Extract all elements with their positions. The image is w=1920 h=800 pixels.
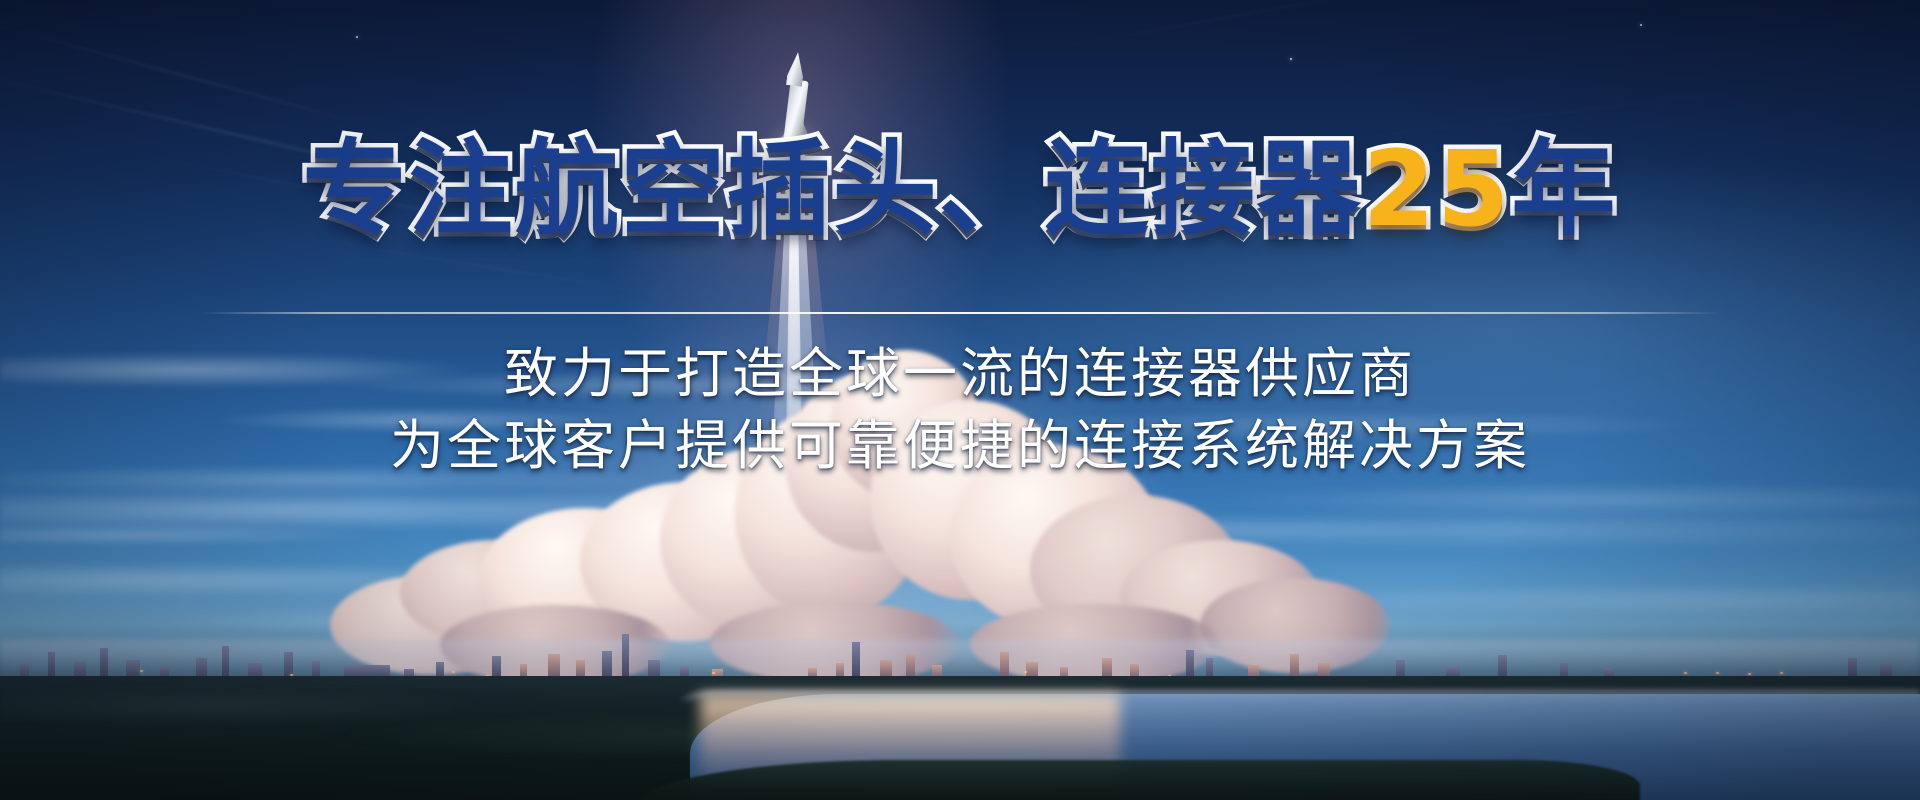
city-light bbox=[1684, 672, 1687, 674]
contrail-streak bbox=[980, 0, 1492, 62]
headline-segment-main: 专注航空插头、连接器 bbox=[303, 137, 1363, 241]
city-light bbox=[1716, 672, 1719, 674]
hero-banner: 专注航空插头、连接器25年 致力于打造全球一流的连接器供应商 为全球客户提供可靠… bbox=[0, 0, 1920, 800]
city-light bbox=[452, 671, 455, 673]
banner-headline: 专注航空插头、连接器25年 bbox=[0, 137, 1920, 241]
banner-subtitle: 致力于打造全球一流的连接器供应商 为全球客户提供可靠便捷的连接系统解决方案 bbox=[0, 338, 1920, 482]
headline-divider bbox=[200, 312, 1720, 314]
city-light bbox=[712, 672, 715, 674]
headline-segment-years: 25 bbox=[1363, 137, 1512, 241]
lake-foreground-bank bbox=[640, 760, 1640, 800]
subtitle-line-1: 致力于打造全球一流的连接器供应商 bbox=[0, 338, 1920, 410]
city-light bbox=[1748, 673, 1751, 675]
contrail-streak bbox=[0, 20, 396, 133]
city-light bbox=[1024, 671, 1027, 673]
city-light bbox=[140, 670, 143, 672]
star bbox=[1290, 58, 1292, 60]
star bbox=[1640, 24, 1642, 26]
city-light bbox=[1780, 672, 1783, 674]
headline-segment-year-unit: 年 bbox=[1511, 137, 1617, 241]
star bbox=[356, 36, 358, 38]
subtitle-line-2: 为全球客户提供可靠便捷的连接系统解决方案 bbox=[0, 410, 1920, 482]
